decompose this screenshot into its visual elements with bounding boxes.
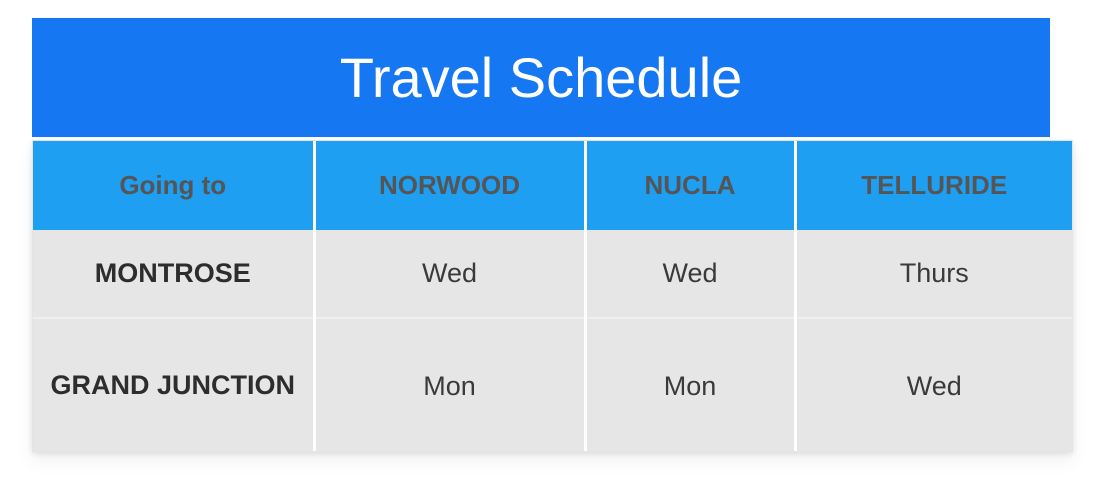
cell-montrose-telluride: Thurs — [795, 230, 1072, 318]
travel-schedule-table-container: Going to NORWOOD NUCLA TELLURIDE MONTROS… — [32, 140, 1073, 452]
row-header-montrose: MONTROSE — [33, 230, 314, 318]
page-title-banner: Travel Schedule — [32, 18, 1050, 137]
table-row: GRAND JUNCTION Mon Mon Wed — [33, 318, 1072, 452]
column-header-telluride[interactable]: TELLURIDE — [795, 141, 1072, 230]
cell-montrose-norwood: Wed — [314, 230, 585, 318]
cell-grand-junction-norwood: Mon — [314, 318, 585, 452]
column-header-norwood[interactable]: NORWOOD — [314, 141, 585, 230]
page-title: Travel Schedule — [340, 50, 743, 106]
table-header-row: Going to NORWOOD NUCLA TELLURIDE — [33, 141, 1072, 230]
cell-montrose-nucla: Wed — [585, 230, 795, 318]
column-header-nucla[interactable]: NUCLA — [585, 141, 795, 230]
cell-grand-junction-telluride: Wed — [795, 318, 1072, 452]
column-header-going-to[interactable]: Going to — [33, 141, 314, 230]
table-row: MONTROSE Wed Wed Thurs — [33, 230, 1072, 318]
row-header-grand-junction: GRAND JUNCTION — [33, 318, 314, 452]
cell-grand-junction-nucla: Mon — [585, 318, 795, 452]
travel-schedule-table: Going to NORWOOD NUCLA TELLURIDE MONTROS… — [33, 141, 1072, 452]
